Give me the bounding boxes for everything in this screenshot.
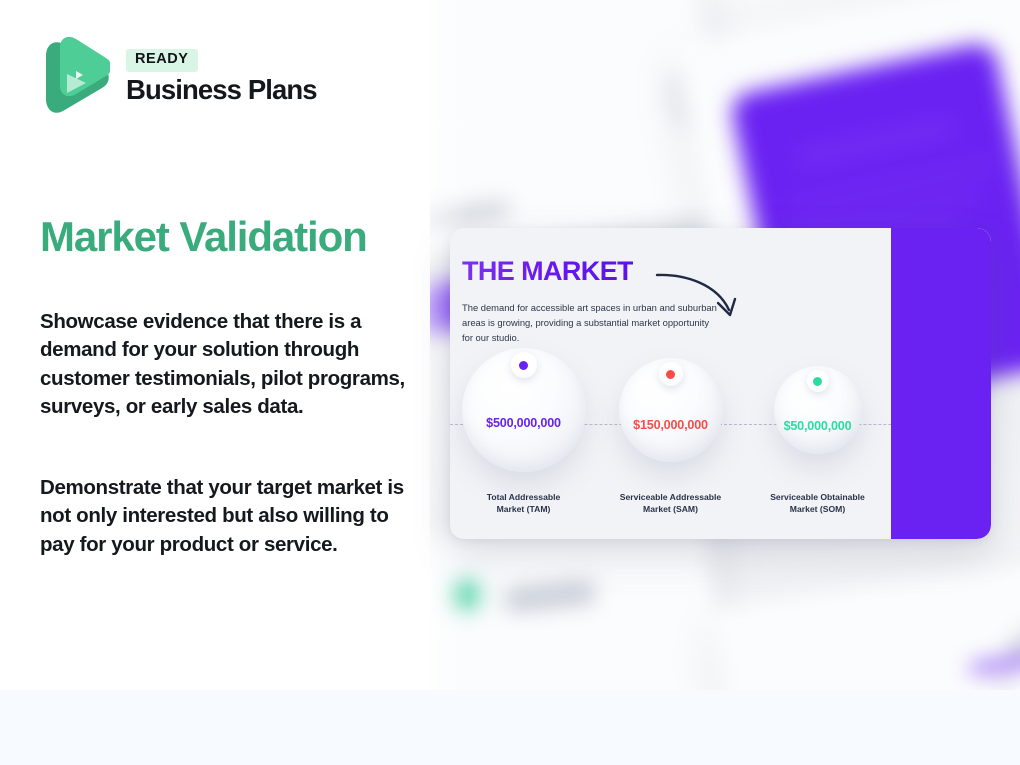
bottom-strip [0, 690, 1020, 765]
brand-logo: READY Business Plans [40, 36, 317, 118]
metric-sam[interactable]: $150,000,000 Serviceable Addressable Mar… [600, 346, 742, 526]
metric-value-tam: $500,000,000 [453, 416, 595, 430]
slide-canvas: READY Business Plans Market Validation S… [0, 0, 1020, 765]
red-dot-icon [666, 370, 675, 379]
left-content-panel: READY Business Plans Market Validation S… [0, 0, 470, 690]
market-metrics-group: $500,000,000 Total Addressable Market (T… [450, 346, 891, 526]
metric-knob-sam [659, 362, 683, 386]
metric-label-tam-line2: Market (TAM) [497, 504, 551, 514]
page-title: Market Validation [40, 214, 367, 259]
curved-arrow-icon [655, 270, 747, 333]
metric-label-som-line1: Serviceable Obtainable [770, 492, 865, 502]
ready-badge: READY [126, 49, 198, 72]
play-triangle-logo-icon [40, 36, 110, 118]
green-dot-icon [813, 377, 822, 386]
brand-text-block: READY Business Plans [126, 49, 317, 106]
metric-label-som-line2: Market (SOM) [790, 504, 845, 514]
brand-name: Business Plans [126, 74, 317, 106]
slide-accent-block [891, 228, 991, 539]
purple-dot-icon [519, 361, 528, 370]
metric-som[interactable]: $50,000,000 Serviceable Obtainable Marke… [747, 346, 889, 526]
backdrop-card-top-left [430, 0, 729, 264]
metric-value-sam: $150,000,000 [600, 418, 742, 432]
slide-preview-card[interactable]: THE MARKET The demand for accessible art… [450, 228, 991, 539]
body-paragraph-1: Showcase evidence that there is a demand… [40, 308, 422, 421]
metric-label-sam-line1: Serviceable Addressable [620, 492, 721, 502]
metric-value-som: $50,000,000 [747, 419, 889, 433]
metric-label-tam: Total Addressable Market (TAM) [453, 491, 595, 515]
metric-label-tam-line1: Total Addressable [487, 492, 561, 502]
metric-label-som: Serviceable Obtainable Market (SOM) [747, 491, 889, 515]
body-paragraph-2: Demonstrate that your target market is n… [40, 474, 422, 559]
metric-label-sam-line2: Market (SAM) [643, 504, 698, 514]
metric-label-sam: Serviceable Addressable Market (SAM) [600, 491, 742, 515]
metric-tam[interactable]: $500,000,000 Total Addressable Market (T… [453, 346, 595, 526]
slide-title: THE MARKET [462, 258, 633, 285]
metric-knob-som [807, 370, 829, 392]
metric-knob-tam [511, 352, 537, 378]
